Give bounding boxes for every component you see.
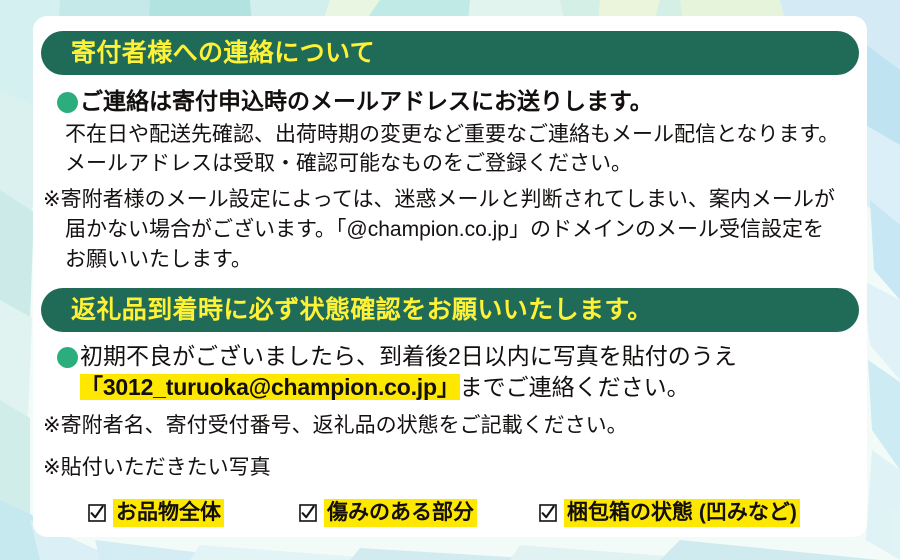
contact-email-line: 「3012_turuoka@champion.co.jp」までご連絡ください。: [80, 374, 690, 402]
checklist-label: 梱包箱の状態 (凹みなど): [564, 499, 800, 527]
content-card: 寄付者様への連絡について ご連絡は寄付申込時のメールアドレスにお送りします。 不…: [33, 16, 867, 537]
checklist-item-package-condition[interactable]: 梱包箱の状態 (凹みなど): [539, 499, 800, 527]
contact-email-address[interactable]: 3012_turuoka@champion.co.jp: [103, 374, 437, 400]
checklist-item-damaged-part[interactable]: 傷みのある部分: [299, 499, 477, 527]
checklist-label: お品物全体: [113, 499, 224, 527]
contact-email-highlight: 「3012_turuoka@champion.co.jp」: [80, 374, 460, 400]
checked-checkbox-icon[interactable]: [88, 504, 106, 522]
contact-note-line-1: ※寄附者様のメール設定によっては、迷惑メールと判断されてしまい、案内メールが: [43, 186, 835, 214]
contact-note-line-3: お願いいたします。: [43, 246, 252, 274]
contact-note-line-2: 届かない場合がございます。「@champion.co.jp」のドメインのメール受…: [43, 216, 824, 244]
bullet-arrival-heading: 初期不良がございましたら、到着後2日以内に写真を貼付のうえ: [57, 343, 737, 371]
checked-checkbox-icon[interactable]: [299, 504, 317, 522]
bullet-contact-heading: ご連絡は寄付申込時のメールアドレスにお送りします。: [57, 88, 653, 114]
contact-body-line-1: 不在日や配送先確認、出荷時期の変更など重要なご連絡もメール配信となります。: [65, 122, 839, 147]
bullet-arrival-heading-text: 初期不良がございましたら、到着後2日以内に写真を貼付のうえ: [80, 343, 737, 371]
photo-checklist: お品物全体 傷みのある部分 梱包箱の状態 (: [88, 499, 800, 527]
contact-body-line-2: メールアドレスは受取・確認可能なものをご登録ください。: [65, 151, 632, 176]
bullet-dot-icon: [57, 92, 78, 113]
checklist-item-whole-product[interactable]: お品物全体: [88, 499, 224, 527]
checked-checkbox-icon[interactable]: [539, 504, 557, 522]
bullet-contact-heading-text: ご連絡は寄付申込時のメールアドレスにお送りします。: [80, 88, 653, 114]
email-bracket-close: 」: [437, 374, 460, 400]
poster-canvas: 寄付者様への連絡について ご連絡は寄付申込時のメールアドレスにお送りします。 不…: [0, 0, 900, 560]
arrival-note-line-1: ※寄附者名、寄付受付番号、返礼品の状態をご記載ください。: [43, 412, 628, 440]
banner-arrival-check-title: 返礼品到着時に必ず状態確認をお願いいたします。: [71, 298, 653, 323]
arrival-note-line-2: ※貼付いただきたい写真: [43, 454, 271, 482]
bullet-dot-icon: [57, 347, 78, 368]
checklist-label: 傷みのある部分: [324, 499, 477, 527]
email-bracket-open: 「: [80, 374, 103, 400]
banner-contact-title: 寄付者様への連絡について: [71, 41, 375, 66]
banner-contact: 寄付者様への連絡について: [41, 31, 859, 75]
banner-arrival-check: 返礼品到着時に必ず状態確認をお願いいたします。: [41, 288, 859, 332]
contact-email-trailing-text: までご連絡ください。: [460, 374, 690, 400]
